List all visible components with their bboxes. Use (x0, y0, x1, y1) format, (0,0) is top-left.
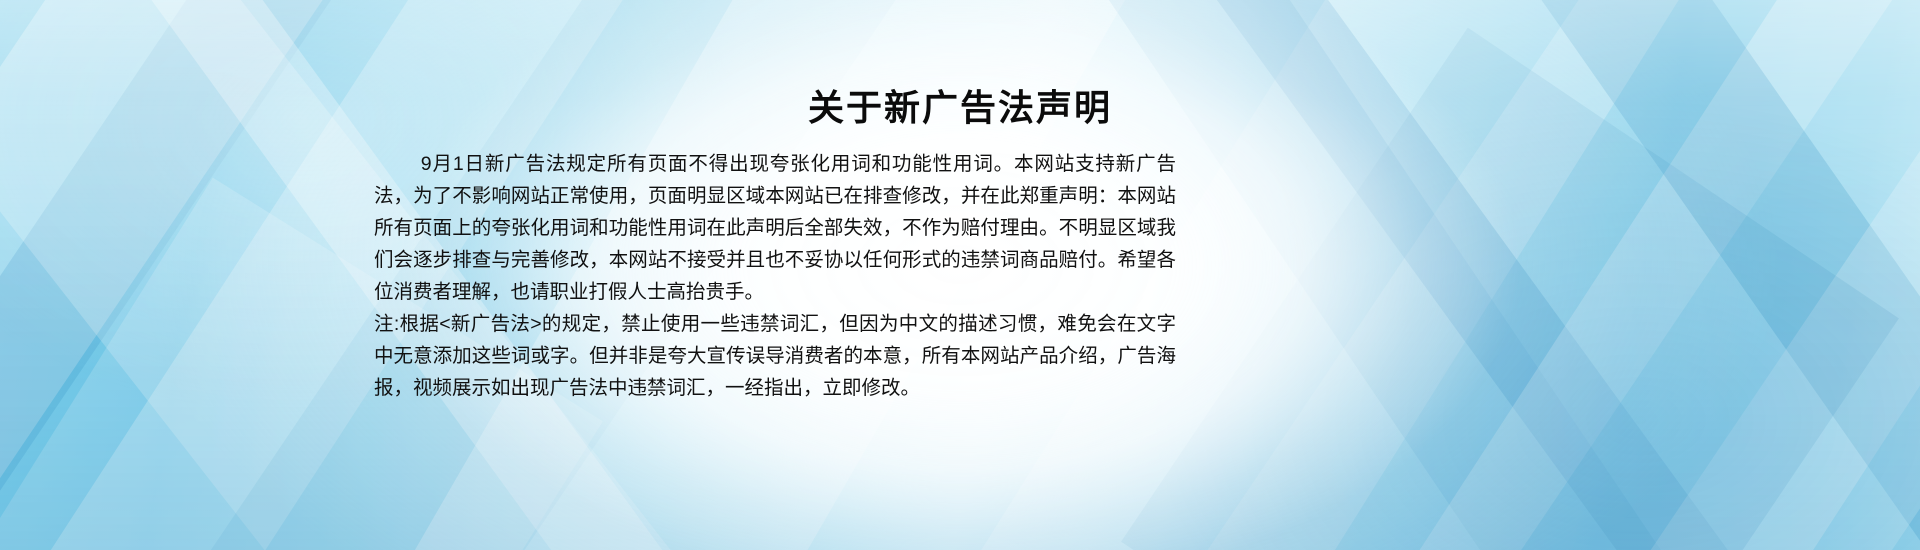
statement-content: 关于新广告法声明 9月1日新广告法规定所有页面不得出现夸张化用词和功能性用词。本… (0, 0, 1920, 550)
advertising-law-statement-banner: 关于新广告法声明 9月1日新广告法规定所有页面不得出现夸张化用词和功能性用词。本… (0, 0, 1920, 550)
statement-paragraph-2: 注:根据<新广告法>的规定，禁止使用一些违禁词汇，但因为中文的描述习惯，难免会在… (374, 308, 1176, 404)
statement-body: 9月1日新广告法规定所有页面不得出现夸张化用词和功能性用词。本网站支持新广告法，… (374, 148, 1176, 404)
page-title: 关于新广告法声明 (0, 88, 1920, 128)
statement-paragraph-1: 9月1日新广告法规定所有页面不得出现夸张化用词和功能性用词。本网站支持新广告法，… (374, 148, 1176, 308)
